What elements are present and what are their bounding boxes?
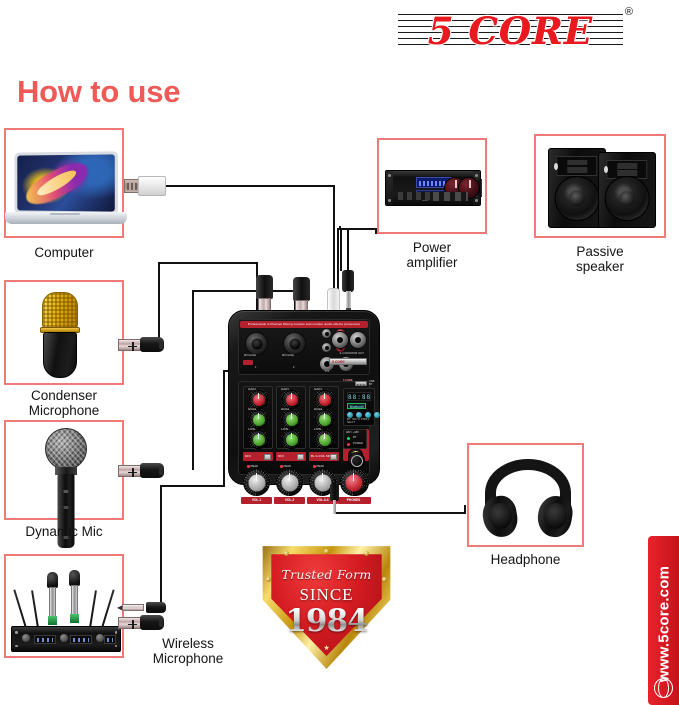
badge-rivet-2 <box>324 549 329 554</box>
card-dynamic-mic <box>4 420 124 520</box>
card-passive-speaker <box>534 134 666 238</box>
high-label-1: HIGH <box>248 407 256 411</box>
wire-headphone-v2 <box>464 505 466 514</box>
volume-tag-1: VOL.1 <box>241 497 272 504</box>
peak-indicator-2: PEAK <box>280 464 291 468</box>
brand-logo-text: 5 CORE <box>398 8 623 53</box>
xlr-combo-jack-1[interactable] <box>245 332 268 355</box>
wire-monitorout-v <box>347 230 349 274</box>
dfx-switch-2[interactable]: DFX <box>276 452 306 461</box>
led-dot-2 <box>347 443 350 446</box>
amp-label-line2: amplifier <box>377 255 487 270</box>
wire-amp-monitor-v <box>340 229 342 271</box>
wire-headphone-h1 <box>334 512 466 514</box>
monitor-out-jack-l[interactable] <box>331 331 349 349</box>
badge-rivet-3 <box>364 551 369 556</box>
badge-star-icon: ★ <box>323 644 329 652</box>
speaker-label-line2: speaker <box>534 259 666 274</box>
speaker-icon-2 <box>598 152 656 228</box>
wireless-mic-icon <box>11 568 121 652</box>
wire-dynamic-v1 <box>192 290 194 470</box>
low-knob-3[interactable] <box>315 430 334 449</box>
wire-amp-h1 <box>337 228 377 230</box>
gain-label-1: GAIN <box>248 387 256 391</box>
audio-mixer[interactable]: Professional 4-Channel Mixing console an… <box>228 310 380 485</box>
xlr-connector-icon-condenser <box>118 337 164 352</box>
badge-top-text: Trusted Form <box>260 567 393 582</box>
wire-dynamic-h1 <box>192 290 294 292</box>
xlr-connector-icon-wireless <box>118 615 164 630</box>
wire-wireless-v1 <box>160 485 162 609</box>
amplifier-icon <box>385 170 481 206</box>
low-label-1: LOW <box>248 427 255 431</box>
condenser-label-line1: Condenser <box>0 388 128 403</box>
card-wireless-microphone-label: Wireless Microphone <box>130 636 246 666</box>
low-label-2: LOW <box>281 427 288 431</box>
channel-number-2: 2 <box>293 366 295 369</box>
infographic-canvas: 5 CORE 5 CORE ® How to use <box>0 0 679 705</box>
low-knob-1[interactable] <box>249 430 268 449</box>
brand-logo: 5 CORE 5 CORE ® <box>398 8 623 53</box>
condenser-label-line2: Microphone <box>0 403 128 418</box>
usb-a-icon <box>124 176 166 196</box>
lcd-button-labels: BT SD/U PREV NEXT <box>347 418 374 424</box>
led-indicator-panel: 48V / +48V BT POWER <box>343 429 367 449</box>
wire-condenser-v1 <box>158 262 160 339</box>
laptop-icon <box>5 152 127 224</box>
phones-volume-tag: PHONES <box>338 497 369 504</box>
dfx-switch-3[interactable]: BL 3-4 R/L MIX <box>309 452 339 461</box>
channel-strip-2: GAIN HIGH LOW <box>276 386 306 449</box>
bluetooth-badge: Bluetooth <box>347 403 366 409</box>
mic-line-label-2: MIC/LINE <box>282 354 294 357</box>
led-dot-1 <box>347 437 350 440</box>
dfx-toggle-2[interactable] <box>297 454 304 460</box>
wireless-label-line1: Wireless <box>130 636 246 651</box>
led-label-3: POWER <box>353 442 363 445</box>
amp-label-line1: Power <box>377 240 487 255</box>
gain-label-3: GAIN <box>314 387 322 391</box>
trs-jack-icon-wireless: ◀ <box>122 602 166 613</box>
website-ribbon[interactable]: www.5core.com <box>648 536 679 705</box>
channel-strip-3: GAIN HIGH LOW <box>309 386 339 449</box>
monitor-out-label: 3-4 MONITOR OUT <box>340 352 364 355</box>
globe-icon <box>654 678 674 698</box>
low-knob-2[interactable] <box>282 430 301 449</box>
volume-tag-2: VOL.2 <box>274 497 305 504</box>
mic-line-label-1: MIC/LINE <box>244 354 256 357</box>
lcd-display-panel[interactable]: 88:88 Bluetooth BT SD/U PREV NEXT <box>343 388 375 426</box>
xlr-combo-jack-2[interactable] <box>283 332 306 355</box>
volume-knob-2[interactable] <box>276 469 303 496</box>
mixer-top-panel: Professional 4-Channel Mixing console an… <box>238 319 370 375</box>
mixer-control-panel: GAIN HIGH LOW GAIN HIGH <box>238 381 370 475</box>
brand-plate: 5 CORE <box>329 358 367 365</box>
mic-line-tag-1 <box>243 360 253 365</box>
dfx-toggle-3[interactable] <box>330 454 337 460</box>
dfx-label-3: BL 3-4 R/L MIX <box>311 453 331 460</box>
card-condenser-microphone-label: Condenser Microphone <box>0 388 128 418</box>
card-computer-label: Computer <box>4 245 124 260</box>
gain-label-2: GAIN <box>281 387 289 391</box>
channel-strip-1: GAIN HIGH LOW <box>243 386 273 449</box>
pan-dial[interactable] <box>348 452 365 469</box>
condenser-mic-icon <box>42 292 78 378</box>
low-label-3: LOW <box>314 427 321 431</box>
peak-indicator-3: PEAK <box>313 464 324 468</box>
led-label-1: 48V / +48V <box>346 431 359 434</box>
card-power-amplifier <box>377 138 487 234</box>
card-passive-speaker-label: Passive speaker <box>534 244 666 274</box>
dfx-toggle-1[interactable] <box>264 454 271 460</box>
website-url: www.5core.com <box>655 566 672 682</box>
mixer-strapline: Professional 4-Channel Mixing console an… <box>240 321 368 328</box>
led-label-2: BT <box>353 436 356 439</box>
badge-year: 1984 <box>260 603 393 639</box>
card-wireless-microphone <box>4 554 124 658</box>
lcd-value: 88:88 <box>347 392 371 401</box>
wire-speaker-v1 <box>339 226 341 228</box>
card-dynamic-mic-label: Dynamic Mic <box>4 524 124 539</box>
high-label-3: HIGH <box>314 407 322 411</box>
dfx-label-1: DFX <box>245 453 251 460</box>
mixer-logo-plate: 5 CORE <box>343 379 353 382</box>
lcd-button-4[interactable] <box>374 412 380 418</box>
usb-port-label: USB BT <box>369 380 374 386</box>
card-headphone-label: Headphone <box>467 552 584 567</box>
peak-indicator-1: PEAK <box>247 464 258 468</box>
page-title: How to use <box>17 74 180 110</box>
registered-trademark-icon: ® <box>625 6 633 18</box>
monitor-out-jack-r[interactable] <box>349 331 367 349</box>
wire-wireless-v2 <box>223 370 225 486</box>
headphone-icon <box>485 459 571 537</box>
card-computer <box>4 128 124 238</box>
volume-knob-1[interactable] <box>243 469 270 496</box>
xlr-connector-icon-dynamic <box>118 463 164 478</box>
high-label-2: HIGH <box>281 407 289 411</box>
dfx-label-2: DFX <box>278 453 284 460</box>
dfx-switch-1[interactable]: DFX <box>243 452 273 461</box>
brand-plate-text: 5 CORE <box>332 359 345 365</box>
rca-jack-white-2[interactable] <box>321 342 332 353</box>
badge-rivet-1 <box>284 551 289 556</box>
rca-group-label: 3 4 <box>325 370 329 373</box>
wire-condenser-h1 <box>158 262 258 264</box>
trust-badge: Trusted Form SINCE 1984 ★ <box>260 541 393 669</box>
usb-port[interactable] <box>355 381 367 386</box>
card-condenser-microphone <box>4 280 124 385</box>
wire-computer-h1 <box>165 185 335 187</box>
card-headphone <box>467 443 584 547</box>
speaker-label-line1: Passive <box>534 244 666 259</box>
badge-since-text: SINCE <box>260 585 393 605</box>
wire-wireless-h2 <box>160 485 225 487</box>
channel-number-1: 1 <box>255 366 257 369</box>
mini-jack-icon-phones <box>330 484 339 514</box>
wireless-label-line2: Microphone <box>130 651 246 666</box>
phones-volume-knob[interactable] <box>340 469 367 496</box>
card-power-amplifier-label: Power amplifier <box>377 240 487 270</box>
